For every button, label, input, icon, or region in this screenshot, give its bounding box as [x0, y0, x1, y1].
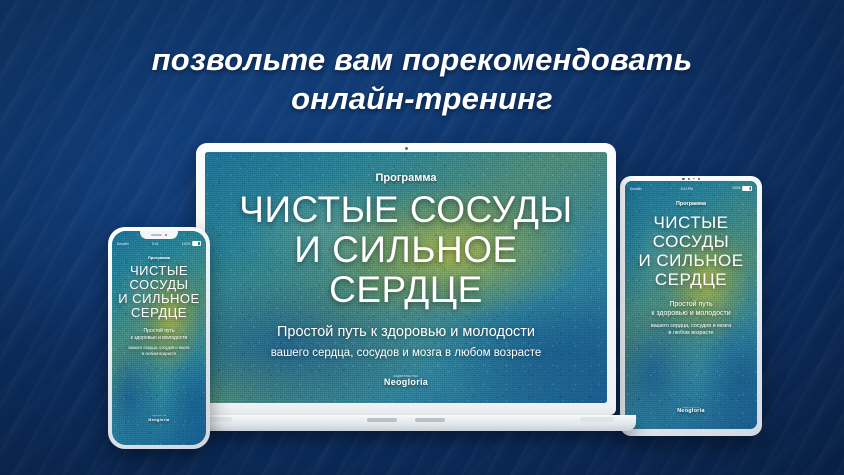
- promo-banner: позвольте вам порекомендовать онлайн-тре…: [0, 0, 844, 475]
- poster-title-line-2: И СИЛЬНОЕ: [239, 230, 572, 270]
- phone-poster-artwork: Программа ЧИСТЫЕ СОСУДЫ И СИЛЬНОЕ СЕРДЦЕ…: [112, 231, 206, 445]
- laptop-base: [176, 415, 636, 431]
- publisher-logo-name: Neoglоria: [148, 418, 169, 422]
- poster-title-line-1: ЧИСТЫЕ: [118, 264, 199, 278]
- headline-line-1: позвольте вам порекомендовать: [152, 42, 693, 77]
- poster-subtitle-primary: Простой путь к здоровью и молодости: [277, 324, 535, 340]
- poster-kicker: Программа: [676, 201, 706, 207]
- phone-frame: Программа ЧИСТЫЕ СОСУДЫ И СИЛЬНОЕ СЕРДЦЕ…: [108, 227, 210, 449]
- tablet-status-bar: Билайн 9:41 PM 100%: [625, 185, 757, 192]
- webcam-icon: [405, 147, 408, 150]
- tablet-camera-cluster: [682, 178, 700, 181]
- poster-title-line-3: И СИЛЬНОЕ: [118, 292, 199, 306]
- publisher-logo-caption: издательство: [677, 407, 705, 409]
- phone-status-carrier: Билайн: [117, 242, 129, 246]
- publisher-logo: издательство Neoglоria: [384, 375, 428, 387]
- phone-notch: [140, 231, 178, 239]
- poster-title-line-1: ЧИСТЫЕ СОСУДЫ: [239, 190, 572, 230]
- poster-title-line-4: СЕРДЦЕ: [638, 270, 743, 289]
- publisher-logo-name: Neoglоria: [384, 378, 428, 387]
- poster-title-line-2: СОСУДЫ: [118, 278, 199, 292]
- tablet-frame: Программа ЧИСТЫЕ СОСУДЫ И СИЛЬНОЕ СЕРДЦЕ…: [620, 176, 762, 436]
- poster-subtitle-secondary: вашего сердца, сосудов и мозга в любом в…: [651, 323, 731, 337]
- publisher-logo: издательство Neoglоria: [148, 416, 169, 422]
- publisher-logo-caption: издательство: [148, 416, 169, 418]
- poster-title-line-3: И СИЛЬНОЕ: [638, 251, 743, 270]
- poster-subtitle-line-3: вашего сердца, сосудов и мозга: [651, 323, 731, 330]
- earpiece-speaker-icon: [151, 234, 162, 236]
- poster-subtitle-primary: Простой путь к здоровью и молодости: [131, 328, 188, 341]
- tablet-status-carrier: Билайн: [630, 187, 641, 191]
- laptop-poster-artwork: Программа ЧИСТЫЕ СОСУДЫ И СИЛЬНОЕ СЕРДЦЕ…: [205, 152, 607, 403]
- laptop-trackpad-notch: [367, 418, 445, 422]
- camera-lens-icon: [688, 178, 691, 181]
- battery-icon: [192, 241, 201, 246]
- tablet-device: Программа ЧИСТЫЕ СОСУДЫ И СИЛЬНОЕ СЕРДЦЕ…: [620, 176, 762, 436]
- tablet-screen[interactable]: Программа ЧИСТЫЕ СОСУДЫ И СИЛЬНОЕ СЕРДЦЕ…: [625, 181, 757, 429]
- poster-title: ЧИСТЫЕ СОСУДЫ И СИЛЬНОЕ СЕРДЦЕ: [239, 190, 572, 310]
- tablet-status-time: 9:41 PM: [681, 187, 693, 191]
- laptop-screen[interactable]: Программа ЧИСТЫЕ СОСУДЫ И СИЛЬНОЕ СЕРДЦЕ…: [205, 152, 607, 403]
- poster-subtitle-line-4: в любом возрасте: [129, 351, 190, 357]
- poster-subtitle-line-2: к здоровью и молодости: [651, 309, 730, 318]
- sensor-dot-icon: [693, 178, 694, 179]
- poster-subtitle-primary: Простой путь к здоровью и молодости: [651, 300, 730, 318]
- poster-subtitle-line-4: в любом возрасте: [651, 330, 731, 337]
- poster-title: ЧИСТЫЕ СОСУДЫ И СИЛЬНОЕ СЕРДЦЕ: [118, 264, 199, 320]
- poster-kicker: Программа: [375, 172, 436, 184]
- poster-subtitle-secondary: вашего сердца, сосудов и мозга в любом в…: [271, 347, 542, 359]
- poster-subtitle-line-2: к здоровью и молодости: [131, 335, 188, 342]
- phone-status-bar: Билайн 9:41 100%: [112, 240, 206, 247]
- camera-lens-icon: [682, 178, 685, 181]
- poster-title: ЧИСТЫЕ СОСУДЫ И СИЛЬНОЕ СЕРДЦЕ: [638, 213, 743, 289]
- base-notch-right: [415, 418, 445, 422]
- front-camera-icon: [165, 234, 168, 237]
- page-title: позвольте вам порекомендовать онлайн-тре…: [0, 40, 844, 118]
- poster-title-line-3: СЕРДЦЕ: [239, 270, 572, 310]
- laptop-lid: Программа ЧИСТЫЕ СОСУДЫ И СИЛЬНОЕ СЕРДЦЕ…: [196, 143, 616, 415]
- poster-title-line-2: СОСУДЫ: [638, 232, 743, 251]
- publisher-logo: издательство Neoglоria: [677, 407, 705, 414]
- poster-kicker: Программа: [148, 255, 170, 260]
- camera-lens-icon: [697, 178, 700, 181]
- publisher-logo-name: Neoglоria: [677, 409, 705, 414]
- tablet-status-battery-label: 100%: [732, 186, 740, 190]
- poster-subtitle-line-1: Простой путь: [651, 300, 730, 309]
- laptop-device: Программа ЧИСТЫЕ СОСУДЫ И СИЛЬНОЕ СЕРДЦЕ…: [196, 143, 616, 415]
- base-notch-left: [367, 418, 397, 422]
- publisher-logo-caption: издательство: [384, 375, 428, 378]
- smartphone-device: Программа ЧИСТЫЕ СОСУДЫ И СИЛЬНОЕ СЕРДЦЕ…: [108, 227, 210, 449]
- laptop-foot-right: [580, 417, 614, 422]
- poster-title-line-4: СЕРДЦЕ: [118, 306, 199, 320]
- poster-subtitle-line-3: вашего сердца, сосудов и мозга: [129, 345, 190, 351]
- headline-line-2: онлайн-тренинг: [0, 79, 844, 118]
- poster-title-line-1: ЧИСТЫЕ: [638, 213, 743, 232]
- poster-subtitle-secondary: вашего сердца, сосудов и мозга в любом в…: [129, 345, 190, 356]
- phone-status-battery-label: 100%: [182, 242, 191, 246]
- phone-status-time: 9:41: [152, 242, 159, 246]
- battery-icon: [742, 186, 752, 191]
- tablet-poster-artwork: Программа ЧИСТЫЕ СОСУДЫ И СИЛЬНОЕ СЕРДЦЕ…: [625, 181, 757, 429]
- phone-screen[interactable]: Программа ЧИСТЫЕ СОСУДЫ И СИЛЬНОЕ СЕРДЦЕ…: [112, 231, 206, 445]
